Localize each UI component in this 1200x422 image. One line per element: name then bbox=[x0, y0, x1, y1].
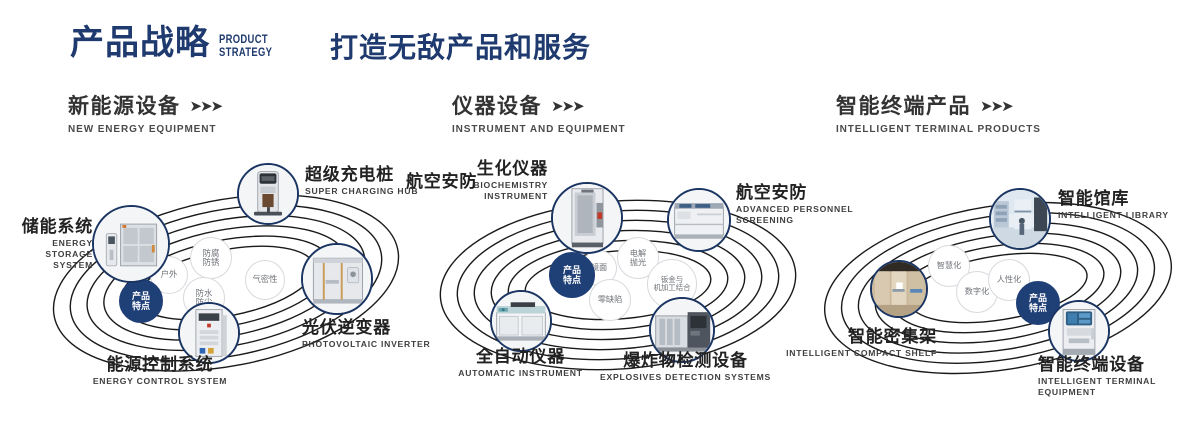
core-bubble-label: 产品特点 bbox=[132, 291, 150, 311]
feature-bubble-label: 智慧化 bbox=[937, 261, 962, 270]
caption-intelligent-compact-shelf: 智能密集架 INTELLIGENT COMPACT SHELF bbox=[782, 327, 937, 359]
caption-cn: 智能密集架 bbox=[782, 327, 937, 346]
caption-en: PHOTOVOLTAIC INVERTER bbox=[302, 339, 432, 350]
caption-cn: 爆炸物检测设备 bbox=[593, 351, 778, 370]
caption-en: INTELLIGENT TERMINAL EQUIPMENT bbox=[1038, 376, 1200, 397]
core-bubble-label: 产品特点 bbox=[1029, 293, 1047, 313]
section-title-en: INSTRUMENT AND EQUIPMENT bbox=[452, 124, 625, 135]
charging-pile-icon bbox=[239, 165, 297, 223]
node-intelligent-compact-shelf[interactable] bbox=[870, 260, 928, 318]
node-biochemistry-instrument[interactable] bbox=[551, 182, 623, 254]
caption-en: ENERGY CONTROL SYSTEM bbox=[65, 376, 255, 387]
cluster-new-energy: 防腐防锈 户外 防水防尘 气密性 产品特点 bbox=[30, 155, 430, 405]
chevron-right-triple-icon: ➤➤➤ bbox=[551, 99, 583, 114]
caption-cn: 航空安防 bbox=[406, 172, 477, 191]
caption-energy-storage: 储能系统 ENERGY STORAGE SYSTEM bbox=[5, 217, 93, 270]
pv-inverter-cabinet-icon bbox=[303, 245, 371, 313]
security-scanner-gate-icon bbox=[553, 184, 621, 252]
caption-cn: 光伏逆变器 bbox=[302, 318, 432, 337]
core-bubble-label: 产品特点 bbox=[563, 265, 581, 285]
node-intelligent-terminal-equipment[interactable] bbox=[1048, 300, 1110, 362]
section-title-en: INTELLIGENT TERMINAL PRODUCTS bbox=[836, 124, 1041, 135]
energy-storage-cabinet-icon bbox=[94, 207, 168, 281]
caption-cn: 智能终端设备 bbox=[1038, 355, 1200, 374]
section-title-instruments: 仪器设备 ➤➤➤ INSTRUMENT AND EQUIPMENT bbox=[452, 96, 625, 135]
self-service-kiosk-icon bbox=[1050, 302, 1108, 360]
automatic-analyzer-icon bbox=[492, 292, 550, 350]
section-title-new-energy: 新能源设备 ➤➤➤ NEW ENERGY EQUIPMENT bbox=[68, 96, 221, 135]
chevron-right-triple-icon: ➤➤➤ bbox=[190, 99, 222, 114]
infographic-canvas: 产品战略 PRODUCT STRATEGY 打造无敌产品和服务 新能源设备 ➤➤… bbox=[0, 0, 1200, 422]
control-cabinet-icon bbox=[180, 304, 238, 362]
caption-en: INTELLIGENT COMPACT SHELF bbox=[782, 348, 937, 359]
feature-bubble-label: 数字化 bbox=[965, 287, 990, 296]
feature-bubble: 防腐防锈 bbox=[190, 237, 232, 279]
node-intelligent-library[interactable] bbox=[989, 188, 1051, 250]
page-title-group: 产品战略 PRODUCT STRATEGY bbox=[70, 26, 284, 60]
caption-en: AUTOMATIC INSTRUMENT bbox=[438, 368, 603, 379]
core-bubble-product-features: 产品特点 bbox=[549, 252, 595, 298]
caption-en: ENERGY STORAGE SYSTEM bbox=[5, 238, 93, 270]
feature-bubble-label: 气密性 bbox=[252, 275, 277, 284]
node-pv-inverter[interactable] bbox=[301, 243, 373, 315]
node-automatic-instrument[interactable] bbox=[490, 290, 552, 352]
page-subtitle: 打造无敌产品和服务 bbox=[330, 34, 591, 62]
feature-bubble: 气密性 bbox=[245, 260, 285, 300]
feature-bubble-label: 电解抛光 bbox=[630, 249, 646, 267]
caption-cn: 全自动仪器 bbox=[438, 347, 603, 366]
chevron-right-triple-icon: ➤➤➤ bbox=[980, 99, 1012, 114]
node-advanced-personnel-screening[interactable] bbox=[667, 188, 731, 252]
caption-super-charging-hub: 超级充电桩 SUPER CHARGING HUB bbox=[305, 165, 418, 197]
caption-en: SUPER CHARGING HUB bbox=[305, 186, 418, 197]
section-title-intelligent-terminal: 智能终端产品 ➤➤➤ INTELLIGENT TERMINAL PRODUCTS bbox=[836, 96, 1041, 135]
feature-bubble-label: 零缺陷 bbox=[598, 295, 623, 304]
core-bubble-product-features: 产品特点 bbox=[119, 279, 163, 323]
caption-aviation-security-overlap: 航空安防 bbox=[406, 172, 477, 191]
feature-bubble-label: 防腐防锈 bbox=[203, 249, 220, 268]
caption-en: EXPLOSIVES DETECTION SYSTEMS bbox=[593, 372, 778, 383]
caption-intelligent-library: 智能馆库 INTELLIGENT LIBRARY bbox=[1058, 189, 1178, 221]
caption-energy-control-system: 能源控制系统 ENERGY CONTROL SYSTEM bbox=[65, 355, 255, 387]
cluster-intelligent-terminal: 智慧化 数字化 人性化 产品特点 bbox=[800, 155, 1200, 405]
screening-machine-icon bbox=[669, 190, 729, 250]
node-energy-storage[interactable] bbox=[92, 205, 170, 283]
page-title-english-line1: PRODUCT bbox=[219, 34, 272, 46]
section-title-cn: 仪器设备 bbox=[452, 96, 542, 117]
node-super-charging-hub[interactable] bbox=[237, 163, 299, 225]
compact-shelf-photo-icon bbox=[872, 262, 926, 316]
feature-bubble: 零缺陷 bbox=[589, 279, 631, 321]
section-title-en: NEW ENERGY EQUIPMENT bbox=[68, 124, 221, 135]
page-title: 产品战略 bbox=[70, 26, 210, 60]
page-title-english: PRODUCT STRATEGY bbox=[219, 34, 272, 59]
library-room-photo-icon bbox=[991, 190, 1049, 248]
caption-pv-inverter: 光伏逆变器 PHOTOVOLTAIC INVERTER bbox=[302, 318, 432, 350]
caption-cn: 储能系统 bbox=[5, 217, 93, 236]
caption-en: INTELLIGENT LIBRARY bbox=[1058, 210, 1178, 221]
section-title-cn: 新能源设备 bbox=[68, 96, 181, 117]
feature-bubble-label: 钣金与机加工结合 bbox=[654, 276, 691, 293]
caption-explosives-detection: 爆炸物检测设备 EXPLOSIVES DETECTION SYSTEMS bbox=[593, 351, 778, 383]
caption-cn: 能源控制系统 bbox=[65, 355, 255, 374]
caption-cn: 智能馆库 bbox=[1058, 189, 1178, 208]
caption-cn: 超级充电桩 bbox=[305, 165, 418, 184]
feature-bubble-label: 人性化 bbox=[997, 275, 1022, 284]
caption-automatic-instrument: 全自动仪器 AUTOMATIC INSTRUMENT bbox=[438, 347, 603, 379]
caption-intelligent-terminal-equipment: 智能终端设备 INTELLIGENT TERMINAL EQUIPMENT bbox=[1038, 355, 1200, 398]
section-title-cn: 智能终端产品 bbox=[836, 96, 971, 117]
page-title-english-line2: STRATEGY bbox=[219, 47, 272, 59]
cluster-instruments: 镜面 电解抛光 钣金与机加工结合 零缺陷 产品特点 bbox=[418, 155, 818, 405]
